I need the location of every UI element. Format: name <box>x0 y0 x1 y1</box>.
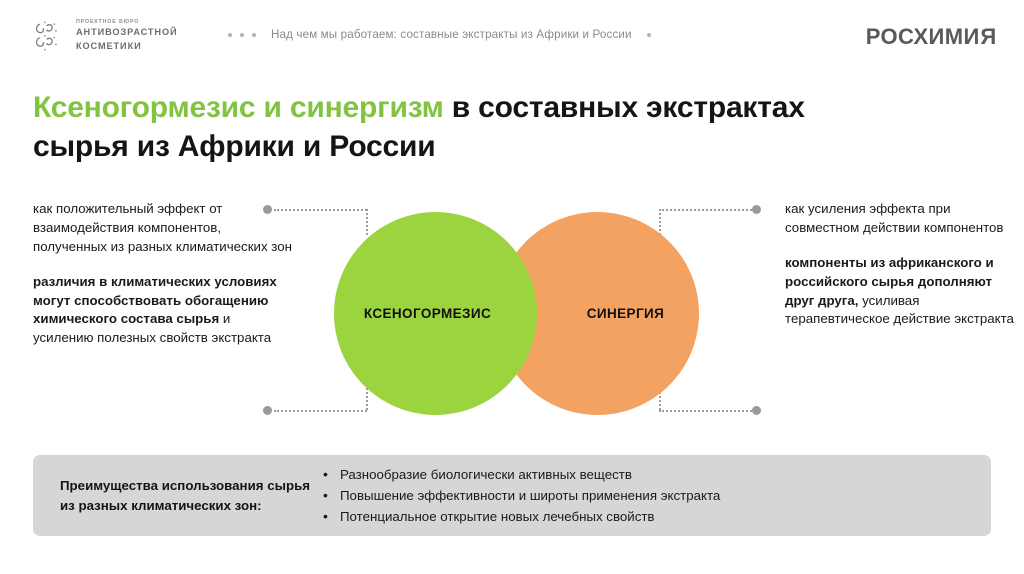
page-title-block: Ксеногормезис и синергизм в составных эк… <box>33 88 813 166</box>
header-dots-right <box>647 33 651 37</box>
dot-icon <box>240 33 244 37</box>
right-text-column: как усиления эффекта при совместном дейс… <box>785 200 1015 329</box>
header-dots-left <box>228 33 256 37</box>
dot-icon <box>228 33 232 37</box>
advantages-panel: Преимущества использования сырья из разн… <box>33 455 991 536</box>
connector-dot-icon <box>263 406 272 415</box>
right-paragraph-2: компоненты из африканского и российского… <box>785 254 1015 330</box>
list-item: Потенциальное открытие новых лечебных св… <box>323 506 991 527</box>
dot-icon <box>647 33 651 37</box>
connector-dot-icon <box>752 406 761 415</box>
advantages-bullet-list: Разнообразие биологически активных вещес… <box>323 464 991 527</box>
brand-logo-right-text: РОСХИМИR <box>866 24 996 49</box>
venn-circle-xenohormesis-label: КСЕНОГОРМЕЗИС <box>364 306 491 321</box>
page-title-accent: Ксеногормезис и синергизм <box>33 91 444 124</box>
connector-dot-icon <box>752 205 761 214</box>
connector-line-vertical <box>366 209 368 235</box>
left-paragraph-2: различия в климатических условиях могут … <box>33 273 293 349</box>
header-caption-group: Над чем мы работаем: составные экстракты… <box>228 28 651 41</box>
left-paragraph-2-bold: различия в климатических условиях могут … <box>33 274 277 327</box>
dot-icon <box>252 33 256 37</box>
venn-circle-synergy-label: СИНЕРГИЯ <box>587 306 664 321</box>
page-header: ПРОЕКТНОЕ БЮРО АНТИВОЗРАСТНОЙ КОСМЕТИКИ … <box>0 0 1024 72</box>
brand-name-line-2: КОСМЕТИКИ <box>76 40 178 53</box>
connector-line-horizontal <box>659 410 752 412</box>
venn-circle-xenohormesis: КСЕНОГОРМЕЗИС <box>334 212 537 415</box>
brand-logo-right-mirrored-letter: R <box>980 24 996 50</box>
connector-line-vertical <box>659 209 661 235</box>
connector-line-horizontal <box>274 209 367 211</box>
left-paragraph-1: как положительный эффект от взаимодейств… <box>33 200 293 257</box>
brand-name-line-1: АНТИВОЗРАСТНОЙ <box>76 26 178 39</box>
list-item: Повышение эффективности и широты примене… <box>323 485 991 506</box>
left-text-column: как положительный эффект от взаимодейств… <box>33 200 293 348</box>
header-caption: Над чем мы работаем: составные экстракты… <box>271 28 632 41</box>
flower-petals-icon <box>33 19 67 53</box>
connector-line-horizontal <box>659 209 752 211</box>
page-title: Ксеногормезис и синергизм в составных эк… <box>33 88 813 166</box>
connector-dot-icon <box>263 205 272 214</box>
brand-logo-left: ПРОЕКТНОЕ БЮРО АНТИВОЗРАСТНОЙ КОСМЕТИКИ <box>33 19 178 53</box>
brand-logo-right: РОСХИМИR <box>866 24 996 50</box>
list-item: Разнообразие биологически активных вещес… <box>323 464 991 485</box>
right-paragraph-1: как усиления эффекта при совместном дейс… <box>785 200 1015 238</box>
advantages-panel-heading: Преимущества использования сырья из разн… <box>33 476 323 515</box>
brand-tagline: ПРОЕКТНОЕ БЮРО <box>76 19 178 26</box>
connector-line-horizontal <box>274 410 367 412</box>
brand-logo-left-text: ПРОЕКТНОЕ БЮРО АНТИВОЗРАСТНОЙ КОСМЕТИКИ <box>76 19 178 53</box>
